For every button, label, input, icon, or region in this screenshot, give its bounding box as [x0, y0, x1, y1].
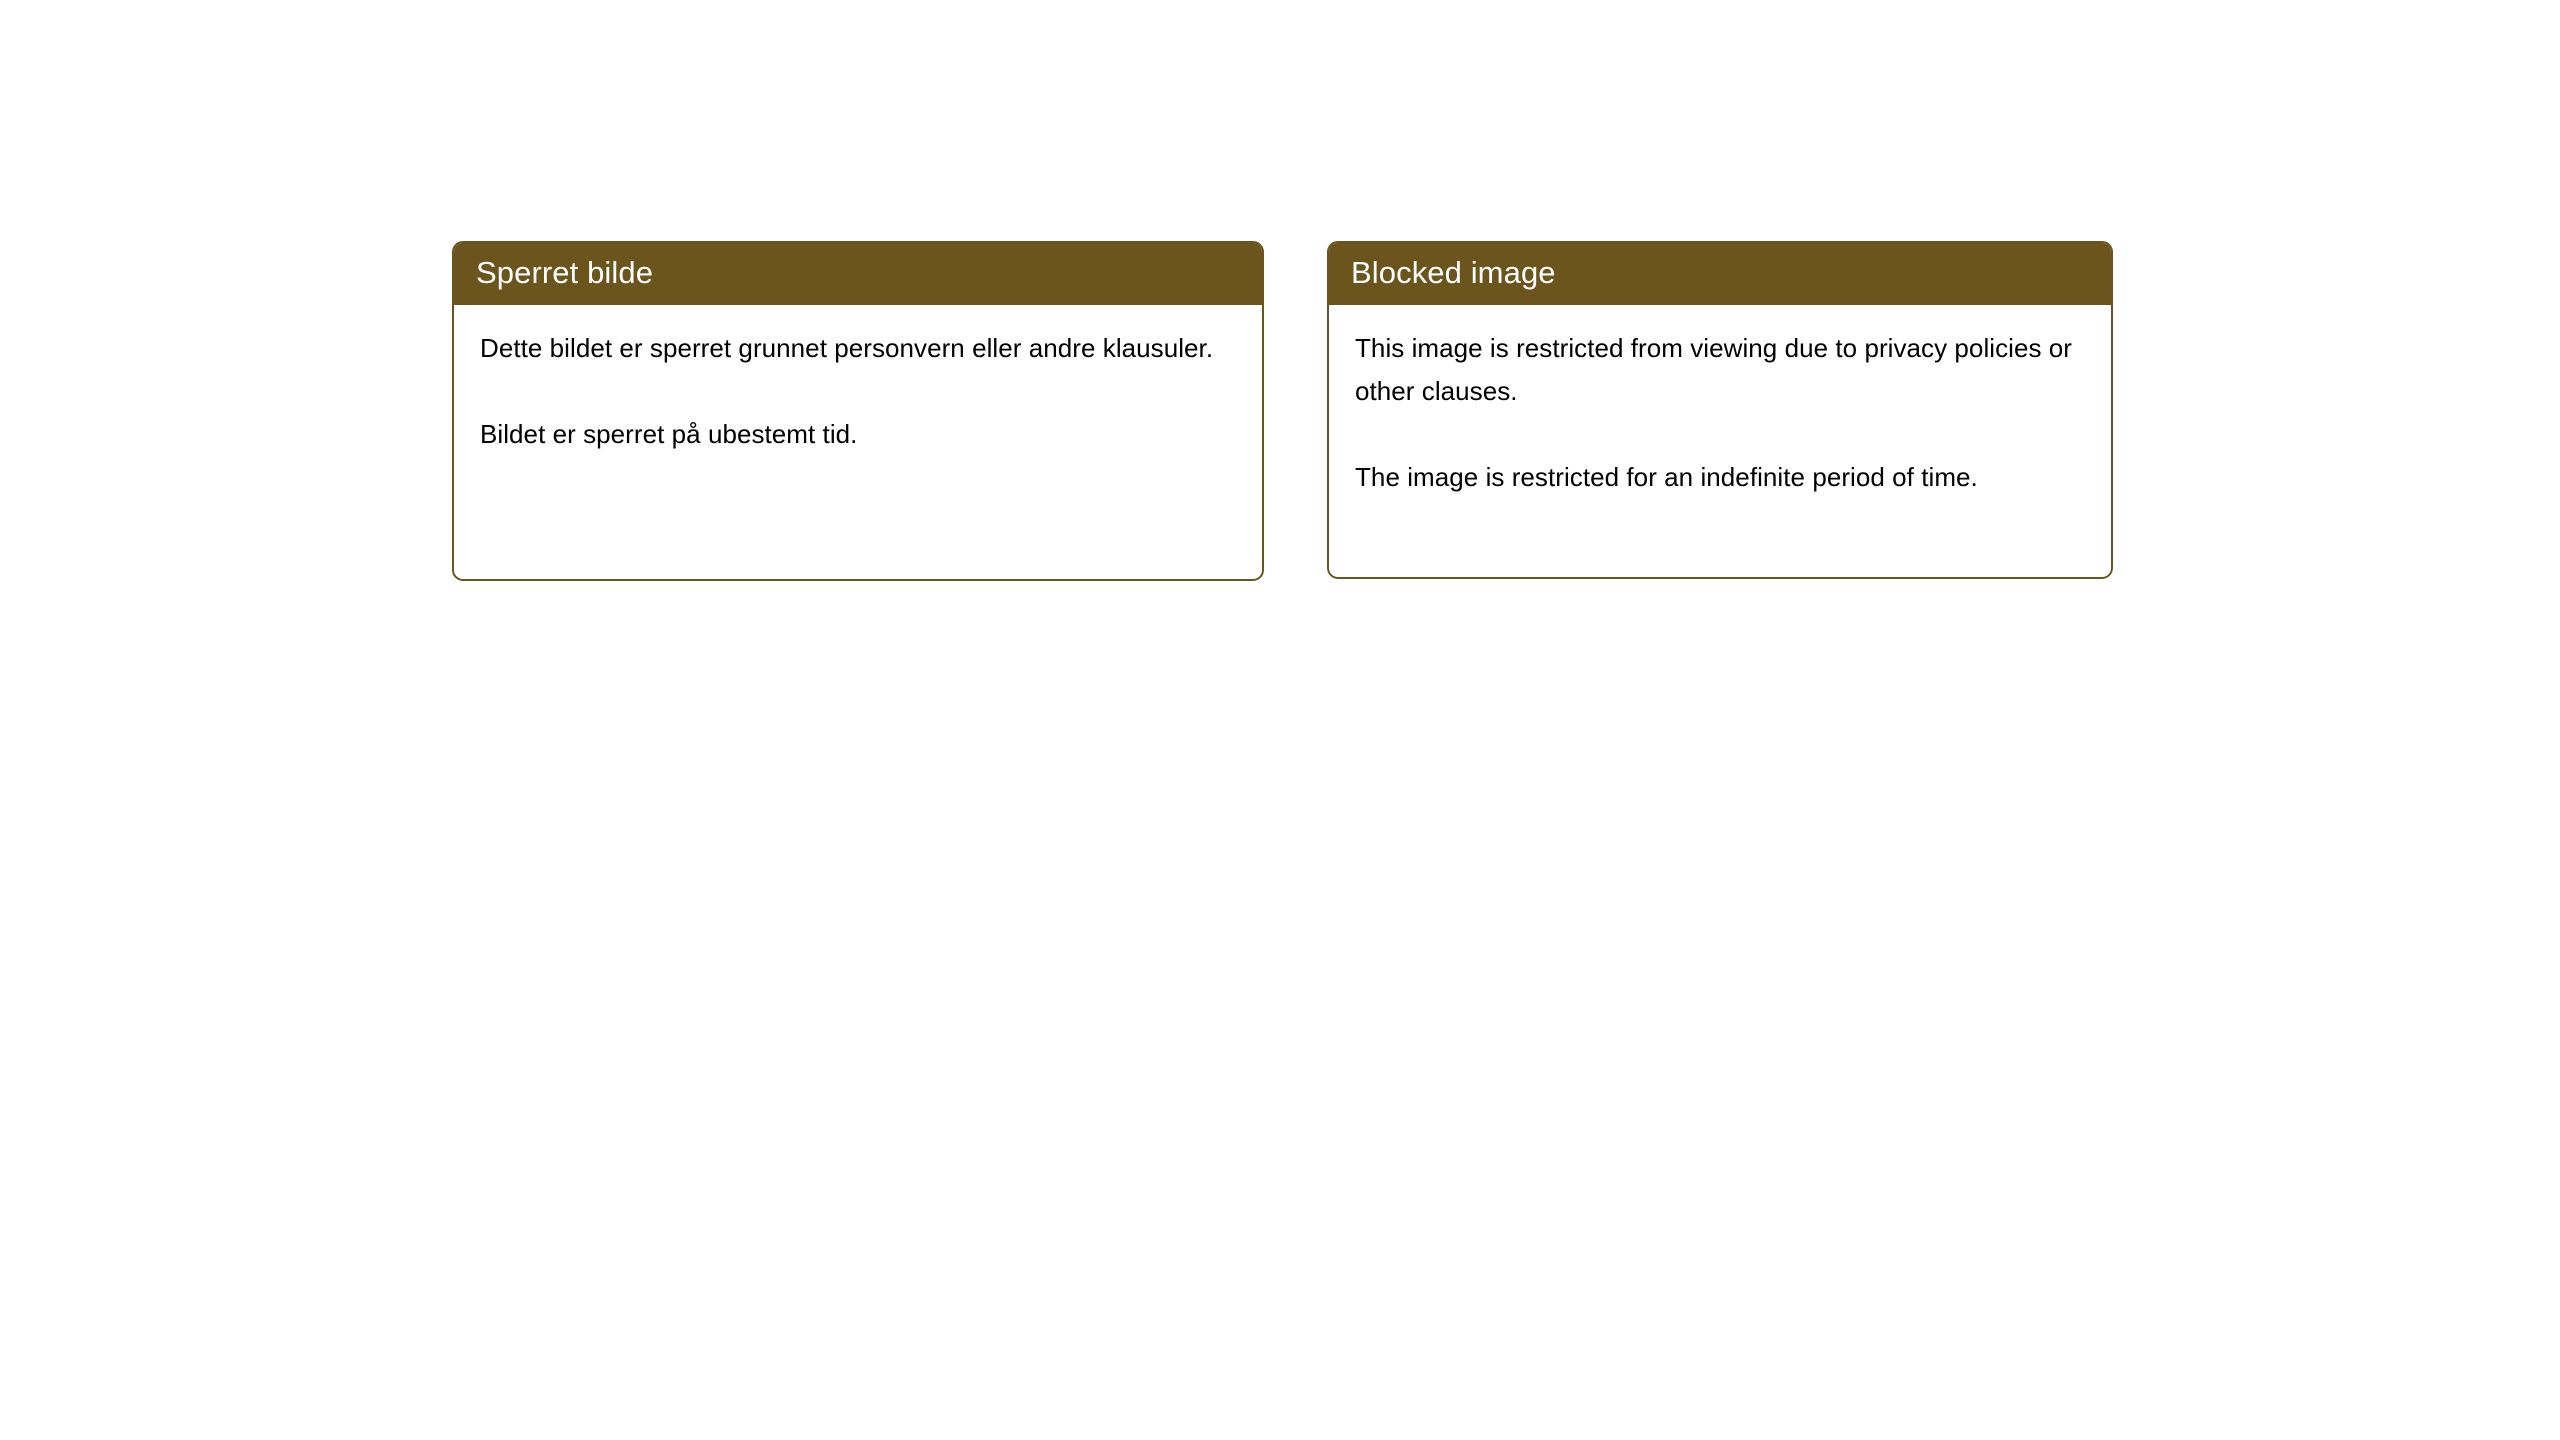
- notice-paragraph: Bildet er sperret på ubestemt tid.: [480, 413, 1236, 456]
- blocked-image-notice-norwegian: Sperret bilde Dette bildet er sperret gr…: [452, 241, 1264, 581]
- blocked-image-notice-english: Blocked image This image is restricted f…: [1327, 241, 2113, 579]
- notice-title-english: Blocked image: [1351, 256, 1556, 290]
- notice-body-english: This image is restricted from viewing du…: [1329, 305, 2111, 499]
- notice-title-norwegian: Sperret bilde: [476, 256, 653, 290]
- notice-body-norwegian: Dette bildet er sperret grunnet personve…: [454, 305, 1262, 456]
- notice-paragraph: This image is restricted from viewing du…: [1355, 327, 2085, 413]
- notice-paragraph: Dette bildet er sperret grunnet personve…: [480, 327, 1236, 370]
- notice-header-norwegian: Sperret bilde: [452, 241, 1264, 305]
- page-root: Sperret bilde Dette bildet er sperret gr…: [0, 0, 2560, 1440]
- notice-header-english: Blocked image: [1327, 241, 2113, 305]
- notice-paragraph: The image is restricted for an indefinit…: [1355, 456, 2085, 499]
